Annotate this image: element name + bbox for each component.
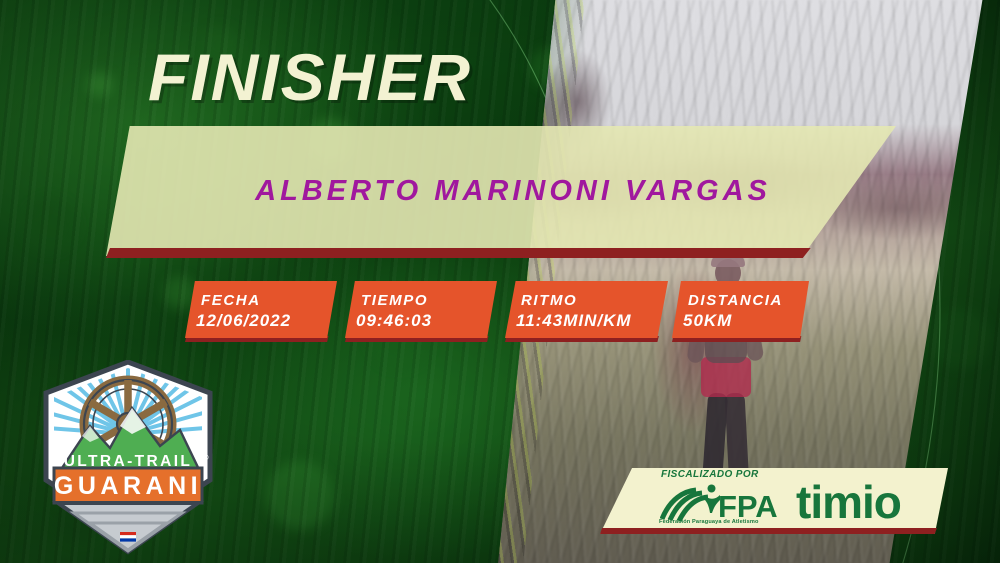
fiscalizado-por-label: FISCALIZADO POR xyxy=(661,469,759,480)
stat-box-distancia: DISTANCIA 50KM xyxy=(672,281,809,338)
stat-box-ritmo: RITMO 11:43MIN/KM xyxy=(505,281,668,338)
stat-box-fecha: FECHA 12/06/2022 xyxy=(185,281,337,338)
timio-logo: timio xyxy=(796,479,901,525)
badge-chevron-base xyxy=(58,503,198,552)
stat-value: 11:43MIN/KM xyxy=(516,311,632,331)
fpa-swoosh-icon xyxy=(662,490,708,521)
stats-row: FECHA 12/06/2022 TIEMPO 09:46:03 RITMO 1… xyxy=(0,281,1000,343)
badge-flag-stripe xyxy=(120,532,136,542)
page-title: FINISHER xyxy=(148,44,472,110)
athlete-name: ALBERTO MARINONI VARGAS xyxy=(118,126,908,256)
ultra-trail-guarani-badge: ULTRA-TRAIL ® UTG GUARANI xyxy=(34,360,222,556)
stat-value: 12/06/2022 xyxy=(196,311,291,331)
badge-event-name: GUARANI xyxy=(54,472,202,500)
badge-registered-mark: ® xyxy=(203,454,209,462)
stat-label: TIEMPO xyxy=(361,292,428,309)
stat-box-tiempo: TIEMPO 09:46:03 xyxy=(345,281,497,338)
stat-label: FECHA xyxy=(201,292,261,309)
stat-label: DISTANCIA xyxy=(688,292,783,309)
stat-value: 09:46:03 xyxy=(356,311,432,331)
stat-label: RITMO xyxy=(521,292,577,309)
stat-value: 50KM xyxy=(683,311,732,331)
finisher-poster: FINISHER ALBERTO MARINONI VARGAS FECHA 1… xyxy=(0,0,1000,563)
fpa-subtitle: Federación Paraguaya de Atletismo xyxy=(659,519,759,525)
